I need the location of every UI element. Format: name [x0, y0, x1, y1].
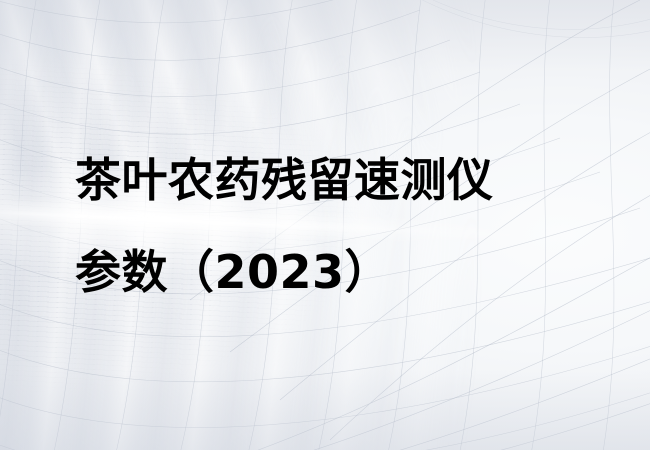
title-card: 茶叶农药残留速测仪 参数（2023）: [0, 0, 650, 450]
title-line-2: 参数（2023）: [75, 226, 595, 318]
page-title: 茶叶农药残留速测仪 参数（2023）: [75, 134, 595, 318]
title-line-1: 茶叶农药残留速测仪: [75, 134, 595, 226]
